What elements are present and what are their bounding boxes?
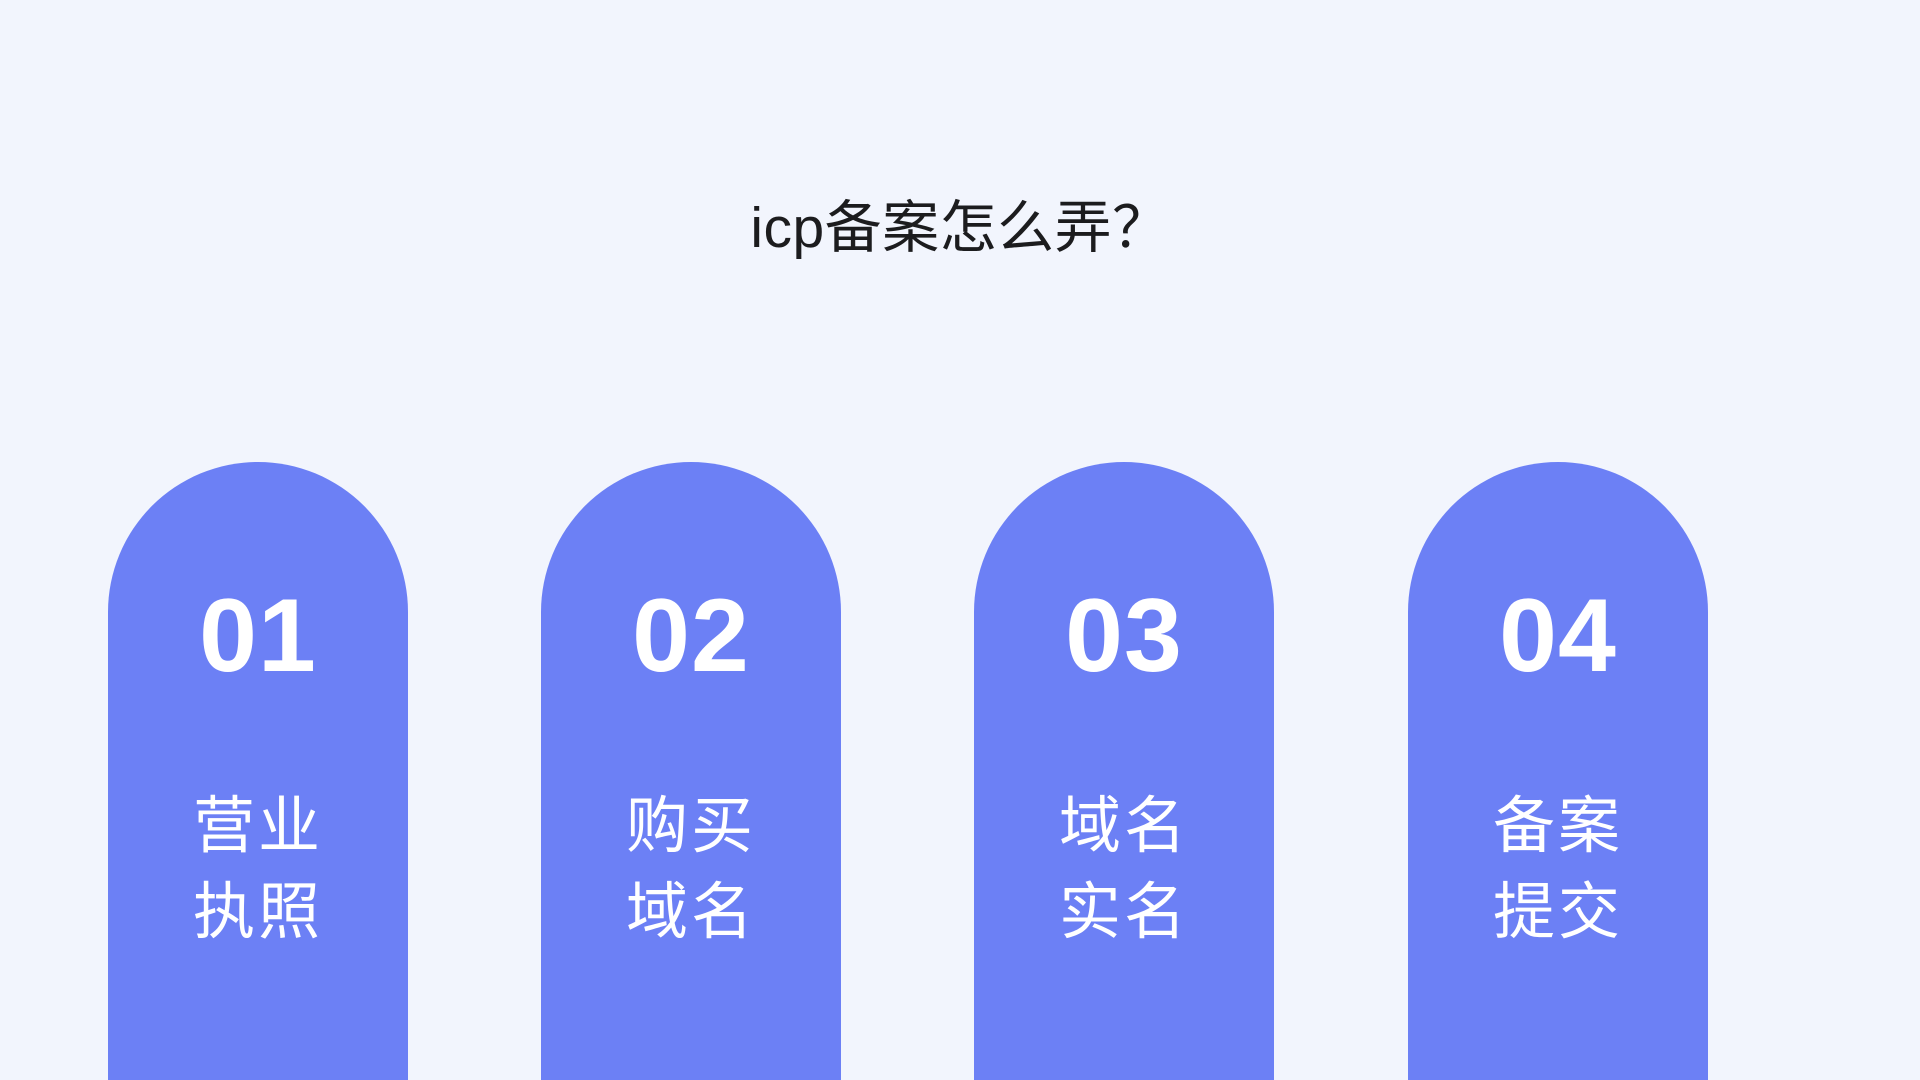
step-card-01[interactable]: 01 营业 执照: [108, 462, 408, 1080]
step-card-04[interactable]: 04 备案 提交: [1408, 462, 1708, 1080]
step-number-04: 04: [1408, 584, 1708, 688]
step-card-02[interactable]: 02 购买 域名: [541, 462, 841, 1080]
step-label-03: 域名 实名: [974, 784, 1274, 956]
step-label-02: 购买 域名: [541, 784, 841, 956]
step-label-03-line2: 实名: [974, 870, 1274, 956]
step-label-04-line1: 备案: [1408, 784, 1708, 870]
step-label-01-line1: 营业: [108, 784, 408, 870]
step-label-02-line1: 购买: [541, 784, 841, 870]
step-number-01: 01: [108, 584, 408, 688]
step-label-01: 营业 执照: [108, 784, 408, 956]
step-label-01-line2: 执照: [108, 870, 408, 956]
step-label-02-line2: 域名: [541, 870, 841, 956]
step-card-row: 01 营业 执照 02 购买 域名 03 域名 实名 04 备案 提交: [108, 462, 1812, 1080]
step-label-04: 备案 提交: [1408, 784, 1708, 956]
step-label-03-line1: 域名: [974, 784, 1274, 870]
step-number-02: 02: [541, 584, 841, 688]
step-label-04-line2: 提交: [1408, 870, 1708, 956]
slide-canvas: icp备案怎么弄？ 01 营业 执照 02 购买 域名 03 域名 实名 04: [0, 0, 1920, 1080]
step-card-03[interactable]: 03 域名 实名: [974, 462, 1274, 1080]
step-number-03: 03: [974, 584, 1274, 688]
page-title: icp备案怎么弄？: [0, 192, 1920, 264]
